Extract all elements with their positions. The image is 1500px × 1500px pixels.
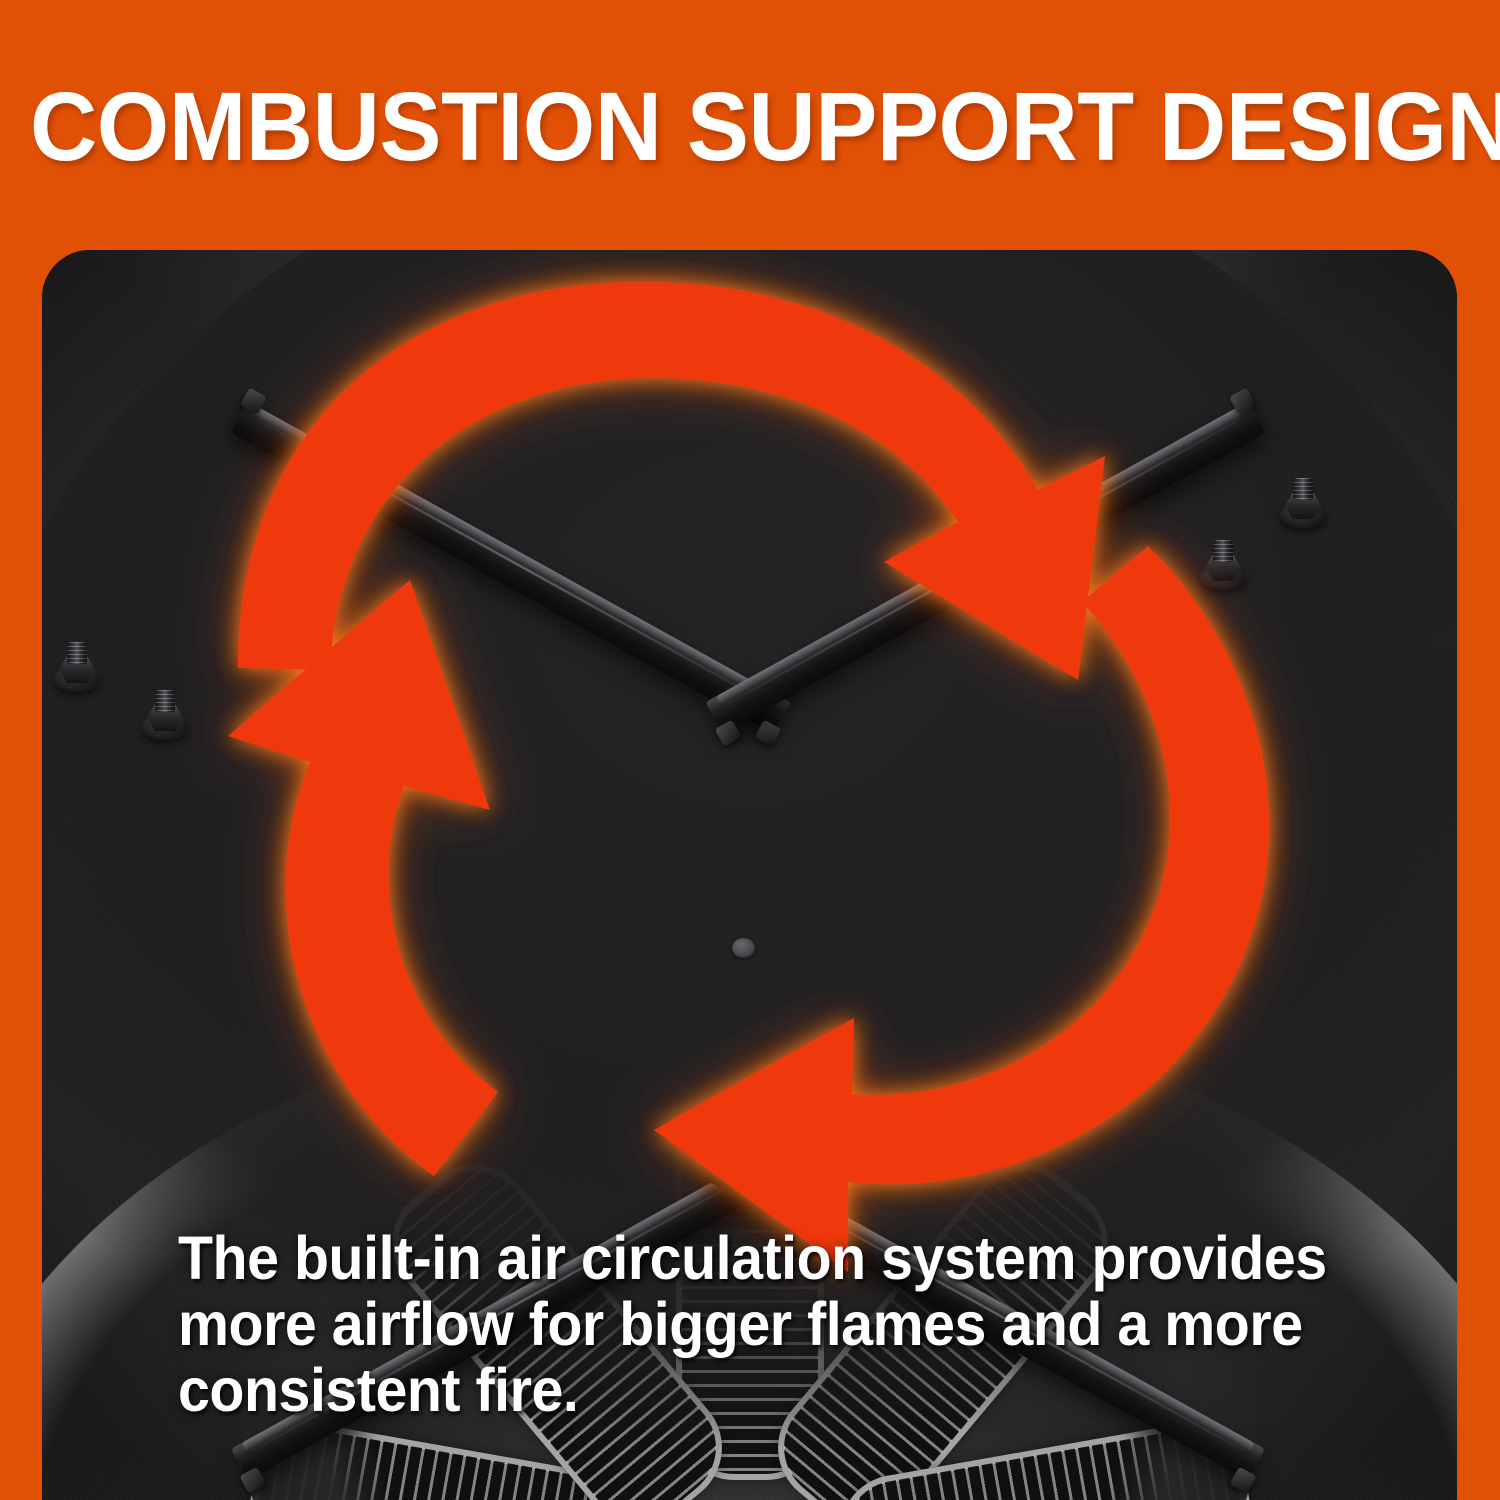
hex-bolt-left-upper xyxy=(54,642,100,692)
hex-bolt-right-lower xyxy=(1200,540,1246,590)
feature-caption: The built-in air circulation system prov… xyxy=(178,1225,1334,1423)
page-title: COMBUSTION SUPPORT DESIGN xyxy=(30,78,1470,175)
bolt-stud xyxy=(67,642,87,664)
hex-bolt-right-upper xyxy=(1280,478,1326,528)
bolt-stud xyxy=(155,690,175,712)
product-feature-card: The built-in air circulation system prov… xyxy=(0,0,1500,1500)
bolt-stud xyxy=(1293,478,1313,500)
hex-bolt-left-lower xyxy=(142,690,188,740)
bolt-stud xyxy=(1213,540,1233,562)
header-banner: COMBUSTION SUPPORT DESIGN xyxy=(0,0,1500,250)
center-rivet xyxy=(732,938,755,958)
product-photo: The built-in air circulation system prov… xyxy=(42,250,1457,1500)
